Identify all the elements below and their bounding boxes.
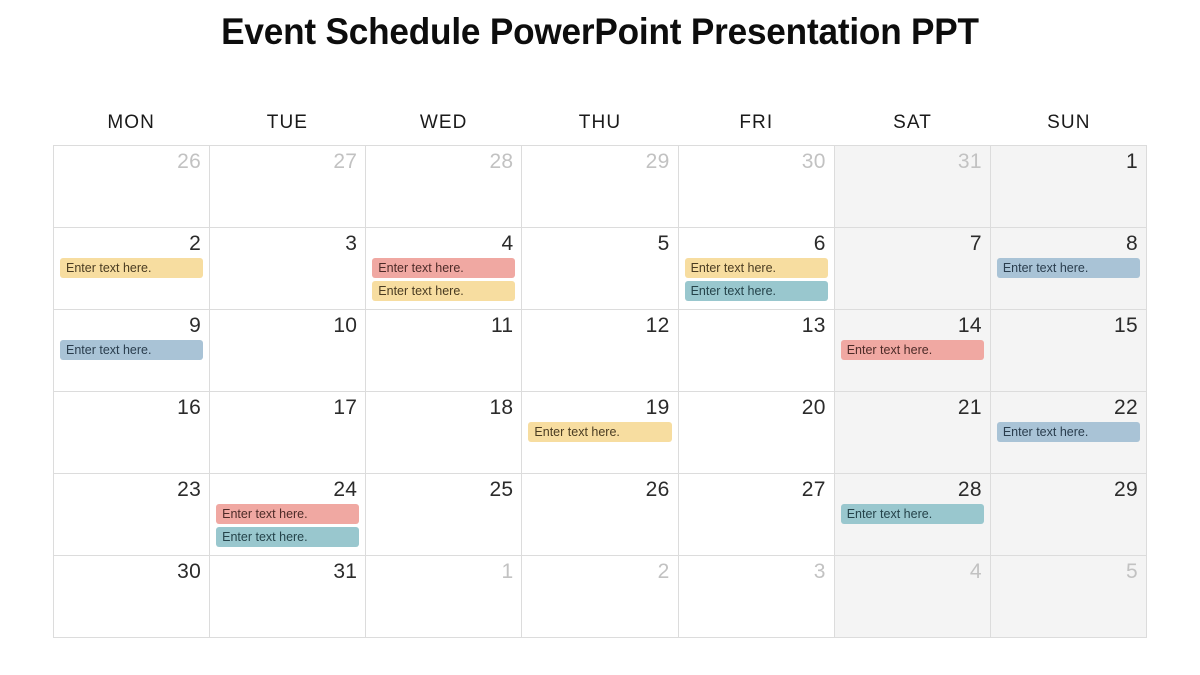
calendar-day-cell[interactable]: 12: [522, 310, 678, 392]
day-number: 26: [60, 149, 203, 174]
day-number: 29: [997, 477, 1140, 502]
day-number: 14: [841, 313, 984, 338]
day-number: 5: [528, 231, 671, 256]
calendar-day-cell[interactable]: 6Enter text here.Enter text here.: [679, 228, 835, 310]
calendar-day-cell[interactable]: 30: [54, 556, 210, 638]
calendar-day-cell[interactable]: 8Enter text here.: [991, 228, 1147, 310]
calendar-day-cell[interactable]: 17: [210, 392, 366, 474]
day-number: 22: [997, 395, 1140, 420]
event-pill-teal[interactable]: Enter text here.: [841, 504, 984, 524]
day-number: 29: [528, 149, 671, 174]
calendar-day-cell[interactable]: 2: [522, 556, 678, 638]
calendar: MONTUEWEDTHUFRISATSUN 26272829303112Ente…: [53, 100, 1147, 638]
day-number: 24: [216, 477, 359, 502]
day-number: 31: [216, 559, 359, 584]
event-pill-blue[interactable]: Enter text here.: [997, 258, 1140, 278]
calendar-grid: 26272829303112Enter text here.34Enter te…: [53, 145, 1147, 638]
calendar-day-cell[interactable]: 10: [210, 310, 366, 392]
day-of-week-header-wed: WED: [366, 100, 522, 145]
day-number: 27: [685, 477, 828, 502]
day-of-week-header-sat: SAT: [834, 100, 990, 145]
calendar-day-cell[interactable]: 21: [835, 392, 991, 474]
calendar-day-cell[interactable]: 11: [366, 310, 522, 392]
calendar-day-cell[interactable]: 4Enter text here.Enter text here.: [366, 228, 522, 310]
event-list: Enter text here.: [997, 258, 1140, 278]
day-number: 25: [372, 477, 515, 502]
event-list: Enter text here.: [60, 340, 203, 360]
day-number: 1: [997, 149, 1140, 174]
day-number: 26: [528, 477, 671, 502]
calendar-day-cell[interactable]: 15: [991, 310, 1147, 392]
calendar-day-cell[interactable]: 3: [679, 556, 835, 638]
calendar-day-cell[interactable]: 4: [835, 556, 991, 638]
day-number: 4: [372, 231, 515, 256]
event-list: Enter text here.: [528, 422, 671, 442]
day-number: 15: [997, 313, 1140, 338]
day-of-week-header-mon: MON: [53, 100, 209, 145]
day-number: 28: [372, 149, 515, 174]
slide-canvas: Event Schedule PowerPoint Presentation P…: [0, 0, 1200, 675]
day-of-week-header-sun: SUN: [991, 100, 1147, 145]
calendar-week-row: 303112345: [54, 556, 1147, 638]
day-number: 5: [997, 559, 1140, 584]
calendar-day-cell[interactable]: 1: [991, 146, 1147, 228]
day-number: 31: [841, 149, 984, 174]
event-pill-pink[interactable]: Enter text here.: [216, 504, 359, 524]
day-number: 6: [685, 231, 828, 256]
event-list: Enter text here.Enter text here.: [685, 258, 828, 301]
calendar-day-cell[interactable]: 27: [679, 474, 835, 556]
event-list: Enter text here.: [997, 422, 1140, 442]
event-list: Enter text here.: [60, 258, 203, 278]
event-pill-yellow[interactable]: Enter text here.: [685, 258, 828, 278]
calendar-day-cell[interactable]: 3: [210, 228, 366, 310]
calendar-day-cell[interactable]: 25: [366, 474, 522, 556]
calendar-week-row: 16171819Enter text here.202122Enter text…: [54, 392, 1147, 474]
event-pill-yellow[interactable]: Enter text here.: [528, 422, 671, 442]
event-pill-yellow[interactable]: Enter text here.: [372, 281, 515, 301]
day-number: 4: [841, 559, 984, 584]
day-number: 13: [685, 313, 828, 338]
calendar-week-row: 2324Enter text here.Enter text here.2526…: [54, 474, 1147, 556]
calendar-day-cell[interactable]: 28: [366, 146, 522, 228]
calendar-day-cell[interactable]: 24Enter text here.Enter text here.: [210, 474, 366, 556]
day-number: 30: [60, 559, 203, 584]
calendar-day-cell[interactable]: 7: [835, 228, 991, 310]
event-pill-pink[interactable]: Enter text here.: [841, 340, 984, 360]
day-number: 7: [841, 231, 984, 256]
calendar-day-cell[interactable]: 2Enter text here.: [54, 228, 210, 310]
calendar-day-cell[interactable]: 9Enter text here.: [54, 310, 210, 392]
day-number: 23: [60, 477, 203, 502]
calendar-day-cell[interactable]: 26: [522, 474, 678, 556]
day-of-week-header-row: MONTUEWEDTHUFRISATSUN: [53, 100, 1147, 145]
calendar-day-cell[interactable]: 20: [679, 392, 835, 474]
event-list: Enter text here.Enter text here.: [216, 504, 359, 547]
day-number: 21: [841, 395, 984, 420]
day-number: 10: [216, 313, 359, 338]
day-of-week-header-thu: THU: [522, 100, 678, 145]
day-number: 8: [997, 231, 1140, 256]
calendar-week-row: 2627282930311: [54, 146, 1147, 228]
calendar-day-cell[interactable]: 28Enter text here.: [835, 474, 991, 556]
calendar-day-cell[interactable]: 31: [210, 556, 366, 638]
calendar-day-cell[interactable]: 27: [210, 146, 366, 228]
page-title: Event Schedule PowerPoint Presentation P…: [30, 11, 1170, 53]
day-number: 16: [60, 395, 203, 420]
calendar-day-cell[interactable]: 18: [366, 392, 522, 474]
calendar-day-cell[interactable]: 19Enter text here.: [522, 392, 678, 474]
calendar-day-cell[interactable]: 29: [522, 146, 678, 228]
calendar-week-row: 9Enter text here.1011121314Enter text he…: [54, 310, 1147, 392]
calendar-day-cell[interactable]: 26: [54, 146, 210, 228]
calendar-day-cell[interactable]: 16: [54, 392, 210, 474]
day-of-week-header-fri: FRI: [678, 100, 834, 145]
day-number: 20: [685, 395, 828, 420]
event-list: Enter text here.Enter text here.: [372, 258, 515, 301]
day-number: 3: [685, 559, 828, 584]
calendar-day-cell[interactable]: 22Enter text here.: [991, 392, 1147, 474]
event-pill-teal[interactable]: Enter text here.: [216, 527, 359, 547]
calendar-day-cell[interactable]: 5: [991, 556, 1147, 638]
calendar-day-cell[interactable]: 14Enter text here.: [835, 310, 991, 392]
calendar-day-cell[interactable]: 31: [835, 146, 991, 228]
event-list: Enter text here.: [841, 504, 984, 524]
calendar-day-cell[interactable]: 1: [366, 556, 522, 638]
day-number: 12: [528, 313, 671, 338]
calendar-day-cell[interactable]: 23: [54, 474, 210, 556]
calendar-day-cell[interactable]: 13: [679, 310, 835, 392]
calendar-day-cell[interactable]: 29: [991, 474, 1147, 556]
day-number: 18: [372, 395, 515, 420]
day-number: 17: [216, 395, 359, 420]
day-number: 28: [841, 477, 984, 502]
day-number: 2: [528, 559, 671, 584]
day-number: 2: [60, 231, 203, 256]
calendar-day-cell[interactable]: 30: [679, 146, 835, 228]
day-number: 3: [216, 231, 359, 256]
event-pill-blue[interactable]: Enter text here.: [60, 340, 203, 360]
day-number: 11: [372, 313, 515, 338]
day-number: 9: [60, 313, 203, 338]
day-number: 1: [372, 559, 515, 584]
event-pill-pink[interactable]: Enter text here.: [372, 258, 515, 278]
calendar-week-row: 2Enter text here.34Enter text here.Enter…: [54, 228, 1147, 310]
day-of-week-header-tue: TUE: [209, 100, 365, 145]
event-pill-teal[interactable]: Enter text here.: [685, 281, 828, 301]
event-list: Enter text here.: [841, 340, 984, 360]
calendar-day-cell[interactable]: 5: [522, 228, 678, 310]
event-pill-blue[interactable]: Enter text here.: [997, 422, 1140, 442]
event-pill-yellow[interactable]: Enter text here.: [60, 258, 203, 278]
day-number: 30: [685, 149, 828, 174]
day-number: 27: [216, 149, 359, 174]
day-number: 19: [528, 395, 671, 420]
